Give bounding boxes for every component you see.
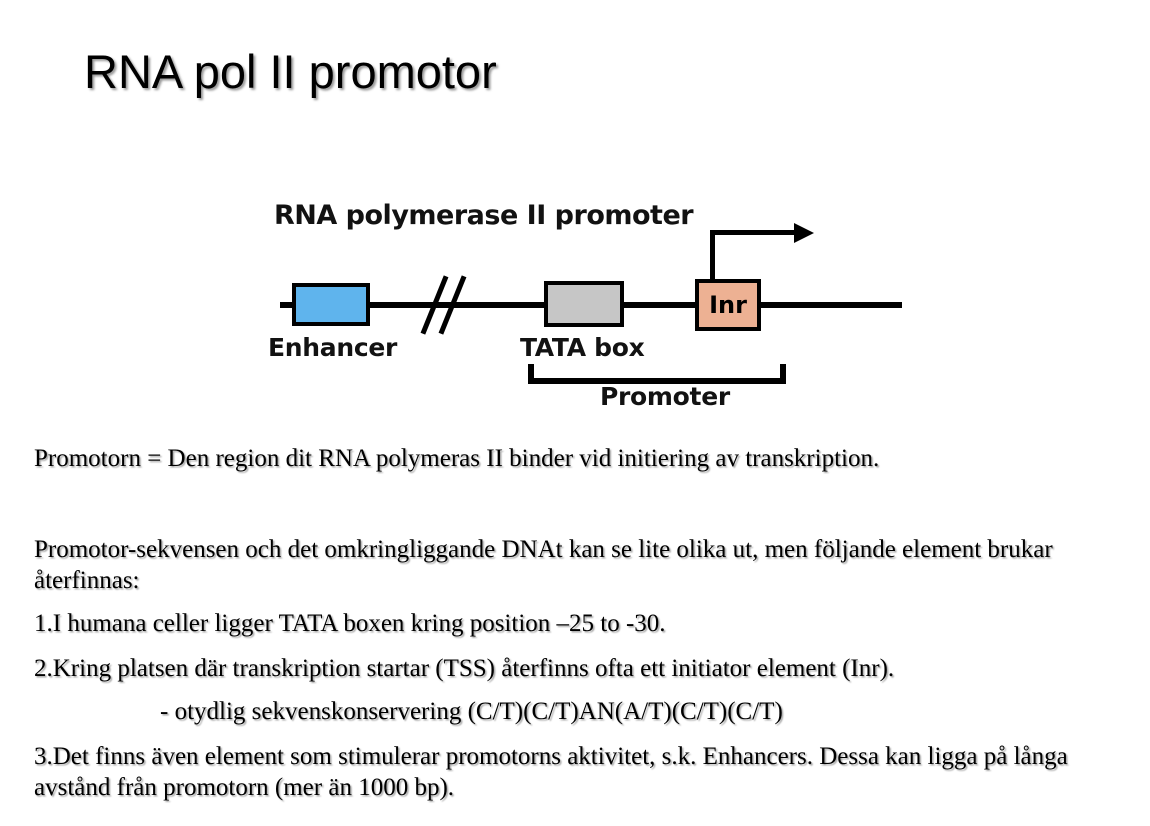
inr-box: Inr	[695, 279, 761, 331]
promoter-bracket	[528, 364, 786, 384]
sequence-break-icon	[422, 274, 472, 336]
enhancer-box	[292, 283, 370, 326]
list-subitem: - otydlig sekvenskonservering (C/T)(C/T)…	[160, 696, 1120, 727]
figure-title: RNA polymerase II promoter	[274, 200, 693, 231]
tata-box	[544, 281, 624, 327]
intro-paragraph: Promotor-sekvensen och det omkringliggan…	[34, 534, 1114, 596]
list-item-1: 1.I humana celler ligger TATA boxen krin…	[34, 608, 1114, 639]
enhancer-label: Enhancer	[268, 333, 397, 362]
promoter-diagram: RNA polymerase II promoter Inr Enhancer …	[258, 200, 908, 415]
definition-paragraph: Promotorn = Den region dit RNA polymeras…	[34, 443, 1114, 474]
transcription-start-arrow-icon	[710, 218, 830, 282]
promoter-label: Promoter	[600, 382, 730, 411]
list-item-2: 2.Kring platsen där transkription starta…	[34, 653, 1114, 684]
page-title: RNA pol II promotor	[84, 44, 497, 99]
list-item-3: 3.Det finns även element som stimulerar …	[34, 741, 1114, 803]
tata-box-label: TATA box	[520, 333, 644, 362]
